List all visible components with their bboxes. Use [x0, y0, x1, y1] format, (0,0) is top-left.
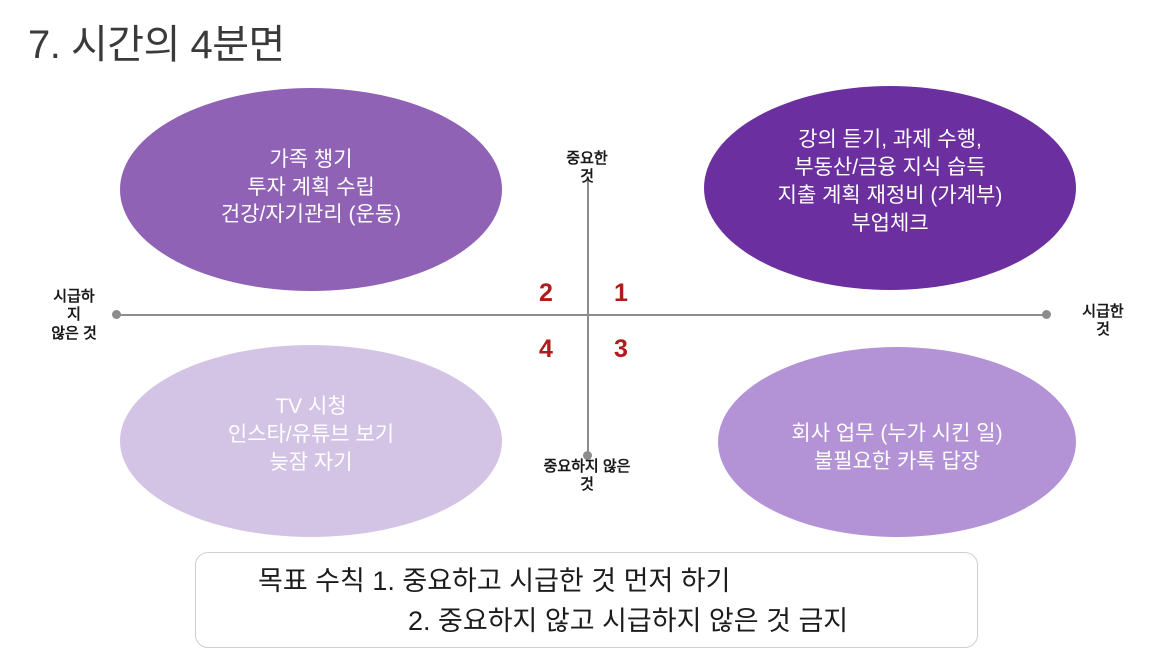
quadrant-number-3: 3 — [614, 337, 628, 362]
axis-endpoint-dot-right-icon — [1042, 310, 1051, 319]
quadrant-1-text: 강의 듣기, 과제 수행, 부동산/금융 지식 습득 지출 계획 재정비 (가계… — [704, 126, 1076, 238]
quadrant-3-ellipse[interactable]: 회사 업무 (누가 시킨 일) 불필요한 카톡 답장 — [718, 347, 1076, 537]
horizontal-axis-line — [116, 314, 1046, 316]
slide-canvas: 7. 시간의 4분면 가족 챙기 투자 계획 수립 건강/자기관리 (운동) 강… — [0, 0, 1173, 660]
axis-label-urgent: 시급한 것 — [1058, 303, 1148, 340]
quadrant-2-ellipse[interactable]: 가족 챙기 투자 계획 수립 건강/자기관리 (운동) — [120, 88, 502, 291]
axis-label-not-urgent: 시급하 지 않은 것 — [34, 288, 114, 343]
quadrant-4-ellipse[interactable]: TV 시청 인스타/유튜브 보기 늦잠 자기 — [120, 345, 502, 537]
quadrant-number-2: 2 — [539, 281, 553, 306]
page-title: 7. 시간의 4분면 — [28, 12, 285, 70]
quadrant-4-text: TV 시청 인스타/유튜브 보기 늦잠 자기 — [120, 393, 502, 477]
axis-label-important: 중요한 것 — [527, 150, 647, 187]
quadrant-number-4: 4 — [539, 337, 553, 362]
goal-rules-box: 목표 수칙 1. 중요하고 시급한 것 먼저 하기 2. 중요하지 않고 시급하… — [195, 552, 978, 648]
quadrant-3-text: 회사 업무 (누가 시킨 일) 불필요한 카톡 답장 — [718, 420, 1076, 476]
quadrant-1-ellipse[interactable]: 강의 듣기, 과제 수행, 부동산/금융 지식 습득 지출 계획 재정비 (가계… — [704, 86, 1076, 290]
goal-rule-line-2: 2. 중요하지 않고 시급하지 않은 것 금지 — [218, 602, 955, 642]
quadrant-number-1: 1 — [614, 281, 628, 306]
goal-rule-line-1: 목표 수칙 1. 중요하고 시급한 것 먼저 하기 — [218, 562, 955, 602]
quadrant-2-text: 가족 챙기 투자 계획 수립 건강/자기관리 (운동) — [120, 146, 502, 230]
axis-label-not-important: 중요하지 않은 것 — [512, 458, 662, 495]
vertical-axis-line — [587, 178, 589, 455]
